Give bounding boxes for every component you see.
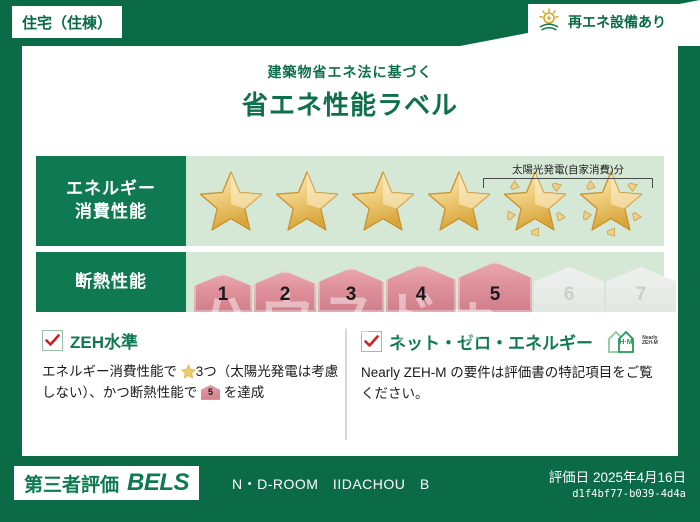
zeh-body-post: を達成 bbox=[220, 385, 264, 400]
insulation-label: 断熱性能 bbox=[75, 271, 147, 294]
footer-bar: 第三者評価 BELS N・D-ROOM IIDACHOU B 評価日 2025年… bbox=[0, 456, 700, 522]
building-name: N・D-ROOM IIDACHOU B bbox=[232, 474, 430, 494]
insulation-performance-row: 断熱性能 1234567 bbox=[36, 252, 664, 312]
solar-note-text: 太陽光発電(自家消費)分 bbox=[478, 162, 658, 177]
title-main: 省エネ性能ラベル bbox=[22, 85, 678, 122]
energy-label-line1: エネルギー bbox=[66, 178, 156, 201]
insulation-level-4: 4 bbox=[386, 265, 456, 312]
insulation-level-5: 5 bbox=[458, 262, 532, 312]
label-card: 建築物省エネ法に基づく 省エネ性能ラベル エネルギー 消費性能 太陽光発電(自家… bbox=[22, 46, 678, 456]
insulation-level-6: 6 bbox=[534, 267, 604, 312]
nze-panel-body: Nearly ZEH-M の要件は評価書の特記項目をご覧ください。 bbox=[361, 363, 658, 405]
insulation-level-number: 7 bbox=[636, 284, 647, 312]
insulation-level-number: 5 bbox=[490, 284, 501, 312]
house-type-label: 住宅（住棟） bbox=[22, 12, 112, 33]
zeh-m-logo-sub: Nearly ZEH-M bbox=[642, 336, 658, 347]
nze-panel-head: ネット・ゼロ・エネルギー H·M Nearly ZEH-M bbox=[361, 328, 658, 354]
energy-performance-row: エネルギー 消費性能 太陽光発電(自家消費)分 bbox=[36, 156, 664, 246]
top-bar: 住宅（住棟） 再エネ設備あり bbox=[0, 0, 700, 46]
solar-sun-icon bbox=[536, 8, 562, 37]
insulation-level-number: 4 bbox=[416, 284, 427, 312]
title-block: 建築物省エネ法に基づく 省エネ性能ラベル bbox=[22, 62, 678, 122]
insulation-level-number: 6 bbox=[564, 284, 575, 312]
renewable-badge-label: 再エネ設備あり bbox=[568, 12, 666, 32]
bels-certification-badge: 第三者評価 BELS bbox=[14, 466, 199, 500]
renewable-equipment-badge: 再エネ設備あり bbox=[528, 4, 688, 40]
inline-house-number: 5 bbox=[201, 385, 220, 400]
footer-meta: 評価日 2025年4月16日 d1f4bf77-b039-4d4a bbox=[549, 466, 686, 500]
zeh-panel-title: ZEH水準 bbox=[70, 328, 138, 353]
insulation-level-number: 2 bbox=[280, 284, 291, 312]
star-2 bbox=[270, 164, 344, 238]
inline-house-icon: 5 bbox=[201, 385, 220, 400]
zeh-standard-panel: ZEH水準 エネルギー消費性能で 3つ（太陽光発電は考慮しない）、かつ断熱性能で… bbox=[36, 328, 345, 440]
inline-star-icon bbox=[181, 364, 196, 379]
solar-bracket bbox=[483, 178, 653, 188]
net-zero-energy-panel: ネット・ゼロ・エネルギー H·M Nearly ZEH-M Nearly bbox=[345, 328, 664, 440]
zeh-m-logo: H·M Nearly ZEH-M bbox=[606, 328, 658, 354]
solar-contribution-note: 太陽光発電(自家消費)分 bbox=[478, 162, 658, 188]
title-subtitle: 建築物省エネ法に基づく bbox=[22, 62, 678, 82]
insulation-level-number: 1 bbox=[218, 284, 229, 312]
zeh-panel-head: ZEH水準 bbox=[42, 328, 339, 353]
zeh-m-sub-line2: ZEH-M bbox=[642, 340, 658, 346]
insulation-level-2: 2 bbox=[254, 271, 316, 312]
star-1 bbox=[194, 164, 268, 238]
star-rating: 太陽光発電(自家消費)分 bbox=[186, 164, 664, 238]
energy-performance-label: 住宅（住棟） 再エネ設備あり bbox=[0, 0, 700, 522]
insulation-level-1: 1 bbox=[194, 274, 252, 312]
check-icon bbox=[42, 330, 63, 351]
zeh-panel-body: エネルギー消費性能で 3つ（太陽光発電は考慮しない）、かつ断熱性能で 5 を達成 bbox=[42, 362, 339, 404]
star-3 bbox=[346, 164, 420, 238]
energy-row-label: エネルギー 消費性能 bbox=[36, 156, 186, 246]
evaluation-date: 評価日 2025年4月16日 bbox=[549, 466, 686, 486]
insulation-level-number: 3 bbox=[346, 284, 357, 312]
nze-panel-title: ネット・ゼロ・エネルギー bbox=[389, 329, 593, 354]
check-icon bbox=[361, 331, 382, 352]
svg-text:H·M: H·M bbox=[619, 339, 632, 346]
bels-en-label: BELS bbox=[127, 469, 189, 497]
bels-jp-label: 第三者評価 bbox=[24, 470, 119, 497]
house-type-badge: 住宅（住棟） bbox=[12, 6, 122, 38]
insulation-level-7: 7 bbox=[606, 267, 676, 312]
zeh-body-pre: エネルギー消費性能で bbox=[42, 364, 181, 379]
insulation-level-3: 3 bbox=[318, 268, 384, 312]
insulation-level-scale: 1234567 bbox=[186, 252, 676, 312]
energy-label-line2: 消費性能 bbox=[75, 201, 147, 224]
criteria-panels: ZEH水準 エネルギー消費性能で 3つ（太陽光発電は考慮しない）、かつ断熱性能で… bbox=[36, 328, 664, 440]
evaluation-id: d1f4bf77-b039-4d4a bbox=[549, 488, 686, 500]
insulation-row-label: 断熱性能 bbox=[36, 252, 186, 312]
